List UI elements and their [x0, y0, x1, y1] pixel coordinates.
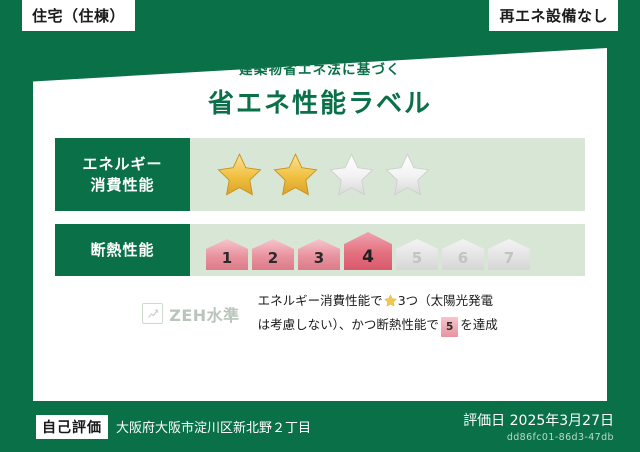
energy-label-card: 住宅（住棟） 再エネ設備なし 建築物省エネ法に基づく 省エネ性能ラベル エネルギ…	[0, 0, 640, 452]
zeh-standard-label: ZEH水準	[169, 302, 239, 326]
zeh-note-part1: エネルギー消費性能で	[258, 293, 383, 308]
insulation-performance-label-line1: 断熱性能	[90, 240, 154, 260]
footer-left-group: 自己評価 大阪府大阪市淀川区新北野２丁目	[36, 415, 311, 439]
energy-performance-row: エネルギー 消費性能	[55, 138, 585, 211]
footer-right-group: 評価日 2025年3月27日 dd86fc01-86d3-47db	[463, 410, 614, 443]
building-type-tag-label: 住宅（住棟）	[32, 5, 125, 26]
self-assessment-badge: 自己評価	[36, 415, 108, 439]
evaluation-date: 評価日 2025年3月27日	[463, 410, 614, 430]
renewable-equipment-tag-label: 再エネ設備なし	[499, 5, 608, 26]
document-id: dd86fc01-86d3-47db	[463, 432, 614, 443]
title-subtitle: 建築物省エネ法に基づく	[33, 58, 607, 78]
insulation-level-badge: 1	[206, 239, 248, 270]
zeh-note-part3: を達成	[460, 317, 498, 332]
insulation-level-badge: 6	[442, 239, 484, 270]
zeh-standard-chip: ZEH水準	[142, 302, 239, 326]
zeh-note-part2: は考慮しない）、かつ断熱性能で	[258, 317, 439, 332]
renewable-equipment-tag: 再エネ設備なし	[489, 0, 618, 31]
insulation-performance-label: 断熱性能	[55, 224, 190, 276]
star-filled-icon	[216, 152, 263, 197]
insulation-level-badge: 2	[252, 239, 294, 270]
footer-bar: 自己評価 大阪府大阪市淀川区新北野２丁目 評価日 2025年3月27日 dd86…	[0, 401, 640, 452]
zeh-note-level-badge: 5	[441, 317, 458, 337]
page-title: 省エネ性能ラベル	[33, 83, 607, 120]
energy-performance-label: エネルギー 消費性能	[55, 138, 190, 211]
zeh-note-block: ZEH水準 エネルギー消費性能で3つ（太陽光発電は考慮しない）、かつ断熱性能で5…	[33, 290, 607, 337]
label-content-panel: 建築物省エネ法に基づく 省エネ性能ラベル エネルギー 消費性能 断熱性能 123…	[33, 48, 607, 401]
zeh-note-star-count: 3つ（太陽光発電	[398, 293, 493, 308]
star-filled-icon	[272, 152, 319, 197]
energy-performance-label-line1: エネルギー	[82, 154, 162, 174]
insulation-level-badge: 7	[488, 239, 530, 270]
energy-star-rating	[190, 138, 585, 211]
property-address: 大阪府大阪市淀川区新北野２丁目	[116, 417, 311, 436]
building-type-tag: 住宅（住棟）	[22, 0, 135, 31]
energy-performance-label-line2: 消費性能	[90, 175, 154, 195]
star-empty-icon	[328, 152, 375, 197]
inline-star-icon	[384, 292, 397, 314]
star-empty-icon	[384, 152, 431, 197]
zeh-note-text: エネルギー消費性能で3つ（太陽光発電は考慮しない）、かつ断熱性能で5を達成	[258, 290, 498, 337]
insulation-performance-row: 断熱性能 1234567	[55, 224, 585, 276]
insulation-level-badge: 4	[344, 232, 392, 270]
title-block: 建築物省エネ法に基づく 省エネ性能ラベル	[33, 58, 607, 120]
insulation-level-badge: 5	[396, 239, 438, 270]
insulation-level-badge: 3	[298, 239, 340, 270]
zeh-chart-icon	[142, 303, 163, 324]
insulation-level-scale: 1234567	[190, 224, 585, 276]
